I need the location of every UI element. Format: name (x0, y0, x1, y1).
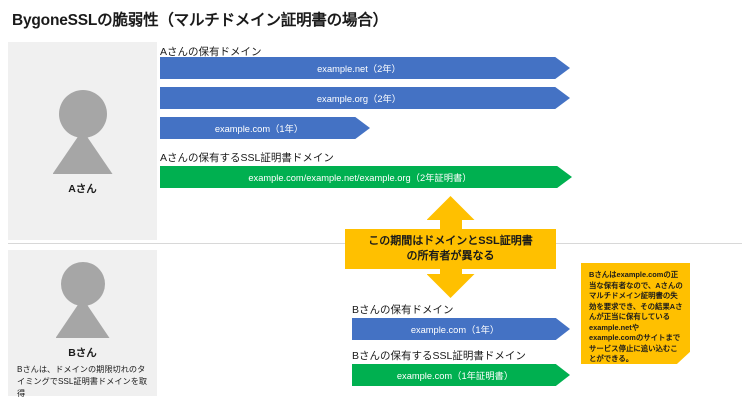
bar-b-cert: example.com（1年証明書） (352, 364, 570, 386)
bar-a-example-org-label: example.org（2年） (317, 91, 401, 105)
bar-b-example-com: example.com（1年） (352, 318, 570, 340)
bar-a-example-net-label: example.net（2年） (317, 61, 401, 75)
avatar-body-icon (53, 130, 113, 174)
person-b-note: Bさんは、ドメインの期限切れのタイミングでSSL証明書ドメインを取得 (8, 364, 157, 400)
bar-a-example-net: example.net（2年） (160, 57, 570, 79)
label-a-domains: Aさんの保有ドメイン (160, 44, 262, 59)
bar-a-cert: example.com/example.net/example.org（2年証明… (160, 166, 572, 188)
avatar-b (56, 262, 110, 338)
bar-b-example-com-label: example.com（1年） (411, 322, 499, 336)
person-b-name: Bさん (68, 345, 97, 360)
label-b-cert: Bさんの保有するSSL証明書ドメイン (352, 348, 526, 363)
diagram-canvas: BygoneSSLの脆弱性（マルチドメイン証明書の場合） Aさん Bさん Bさん… (0, 0, 750, 403)
label-a-cert: Aさんの保有するSSL証明書ドメイン (160, 150, 334, 165)
bar-a-example-org: example.org（2年） (160, 87, 570, 109)
mismatch-callout-text: この期間はドメインとSSL証明書 の所有者が異なる (345, 229, 556, 269)
person-panel-b: Bさん Bさんは、ドメインの期限切れのタイミングでSSL証明書ドメインを取得 (8, 250, 157, 396)
arrow-down-icon (427, 274, 475, 298)
avatar-body-icon (56, 298, 110, 338)
bar-b-cert-label: example.com（1年証明書） (397, 368, 513, 382)
avatar-a (53, 90, 113, 174)
bar-a-example-com: example.com（1年） (160, 117, 370, 139)
callout-line-1: この期間はドメインとSSL証明書 (368, 235, 532, 247)
bar-a-example-com-label: example.com（1年） (215, 121, 303, 135)
callout-line-2: の所有者が異なる (407, 250, 495, 262)
label-b-domains: Bさんの保有ドメイン (352, 302, 454, 317)
person-a-name: Aさん (68, 181, 97, 196)
bar-a-cert-label: example.com/example.net/example.org（2年証明… (248, 170, 471, 184)
impact-note: Bさんはexample.comの正当な保有者なので、Aさんのマルチドメイン証明書… (581, 263, 690, 364)
person-panel-a: Aさん (8, 42, 157, 240)
mismatch-callout: この期間はドメインとSSL証明書 の所有者が異なる (345, 196, 556, 298)
arrow-up-icon (427, 196, 475, 220)
page-title: BygoneSSLの脆弱性（マルチドメイン証明書の場合） (12, 8, 388, 30)
